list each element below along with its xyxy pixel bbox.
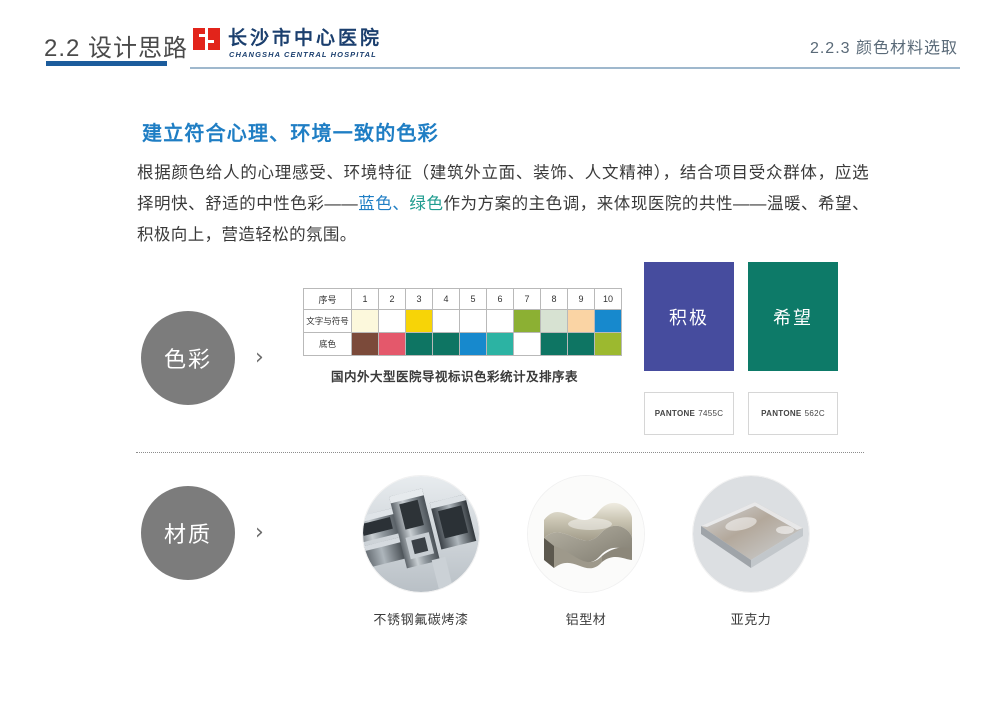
background-swatch — [460, 333, 487, 356]
text-symbol-swatch — [460, 310, 487, 333]
text-symbol-swatch — [406, 310, 433, 333]
highlight-blue: 蓝色 — [358, 195, 392, 213]
chevron-right-icon-color: › — [255, 345, 264, 370]
table-index-cell: 10 — [595, 289, 622, 310]
table-header-label: 序号 — [304, 289, 352, 310]
table-caption: 国内外大型医院导视标识色彩统计及排序表 — [303, 366, 606, 385]
hospital-name-en: CHANGSHA CENTRAL HOSPITAL — [229, 50, 377, 59]
table-index-cell: 3 — [406, 289, 433, 310]
text-symbol-swatch — [541, 310, 568, 333]
material-photo-acrylic — [693, 476, 809, 592]
pantone-brand-hope: PANTONE — [761, 409, 801, 418]
table-index-cell: 9 — [568, 289, 595, 310]
pantone-swatch-hope: 希望 PANTONE562C — [748, 262, 838, 435]
table-index-cell: 2 — [379, 289, 406, 310]
category-circle-material: 材质 — [141, 486, 235, 580]
hospital-name-cn: 长沙市中心医院 — [228, 23, 382, 50]
background-swatch — [541, 333, 568, 356]
category-circle-material-label: 材质 — [164, 517, 212, 549]
table-row: 文字与符号 — [304, 310, 622, 333]
pantone-chip-word-positive: 积极 — [669, 304, 709, 330]
table-index-cell: 1 — [352, 289, 379, 310]
category-circle-color-label: 色彩 — [164, 342, 212, 374]
table-index-cell: 4 — [433, 289, 460, 310]
hospital-cross-logo-icon — [192, 26, 222, 52]
table-index-cell: 5 — [460, 289, 487, 310]
background-swatch — [595, 333, 622, 356]
hospital-logo: 长沙市中心医院 CHANGSHA CENTRAL HOSPITAL — [192, 24, 357, 62]
table-index-cell: 7 — [514, 289, 541, 310]
pantone-code-hope: 562C — [805, 409, 825, 418]
slide-number-underline — [46, 61, 167, 66]
pantone-swatch-positive: 积极 PANTONE7455C — [644, 262, 734, 435]
pantone-code-positive: 7455C — [698, 409, 723, 418]
table-row-label-text-symbol: 文字与符号 — [304, 310, 352, 333]
page-title: 建立符合心理、环境一致的色彩 — [142, 117, 439, 146]
background-swatch — [406, 333, 433, 356]
highlight-separator: 、 — [392, 195, 409, 213]
text-symbol-swatch — [433, 310, 460, 333]
text-symbol-swatch — [595, 310, 622, 333]
background-swatch — [433, 333, 460, 356]
pantone-chip-word-hope: 希望 — [773, 304, 813, 330]
table-index-cell: 8 — [541, 289, 568, 310]
background-swatch — [487, 333, 514, 356]
background-swatch — [352, 333, 379, 356]
table-row: 序号 1 2 3 4 5 6 7 8 9 10 — [304, 289, 622, 310]
category-circle-color: 色彩 — [141, 311, 235, 405]
pantone-chip-positive: 积极 — [644, 262, 734, 371]
header-rule — [190, 67, 960, 69]
background-swatch — [568, 333, 595, 356]
text-symbol-swatch — [568, 310, 595, 333]
section-title: 2.2.3 颜色材料选取 — [810, 34, 958, 58]
material-label-aluminium: 铝型材 — [506, 609, 666, 628]
material-photo-aluminium — [528, 476, 644, 592]
table-index-cell: 6 — [487, 289, 514, 310]
text-symbol-swatch — [352, 310, 379, 333]
table-row: 底色 — [304, 333, 622, 356]
pantone-chip-hope: 希望 — [748, 262, 838, 371]
pantone-card-positive: PANTONE7455C — [644, 392, 734, 435]
background-swatch — [514, 333, 541, 356]
pantone-brand-positive: PANTONE — [655, 409, 695, 418]
color-statistics-table: 序号 1 2 3 4 5 6 7 8 9 10 文字与符号 底色 — [303, 288, 622, 356]
body-paragraph: 根据颜色给人的心理感受、环境特征（建筑外立面、装饰、人文精神），结合项目受众群体… — [137, 158, 869, 251]
text-symbol-swatch — [379, 310, 406, 333]
text-symbol-swatch — [514, 310, 541, 333]
chevron-right-icon-material: › — [255, 520, 264, 545]
pantone-card-hope: PANTONE562C — [748, 392, 838, 435]
material-label-acrylic: 亚克力 — [671, 609, 831, 628]
text-symbol-swatch — [487, 310, 514, 333]
slide-header: 2.2 设计思路 长沙市中心医院 CHANGSHA CENTRAL HOSPIT… — [0, 0, 1000, 82]
background-swatch — [379, 333, 406, 356]
material-photo-stainless-steel — [363, 476, 479, 592]
material-label-stainless-steel: 不锈钢氟碳烤漆 — [341, 609, 501, 628]
table-row-label-background: 底色 — [304, 333, 352, 356]
highlight-green: 绿色 — [409, 195, 443, 213]
section-divider — [136, 452, 864, 453]
slide-number: 2.2 设计思路 — [44, 28, 188, 63]
